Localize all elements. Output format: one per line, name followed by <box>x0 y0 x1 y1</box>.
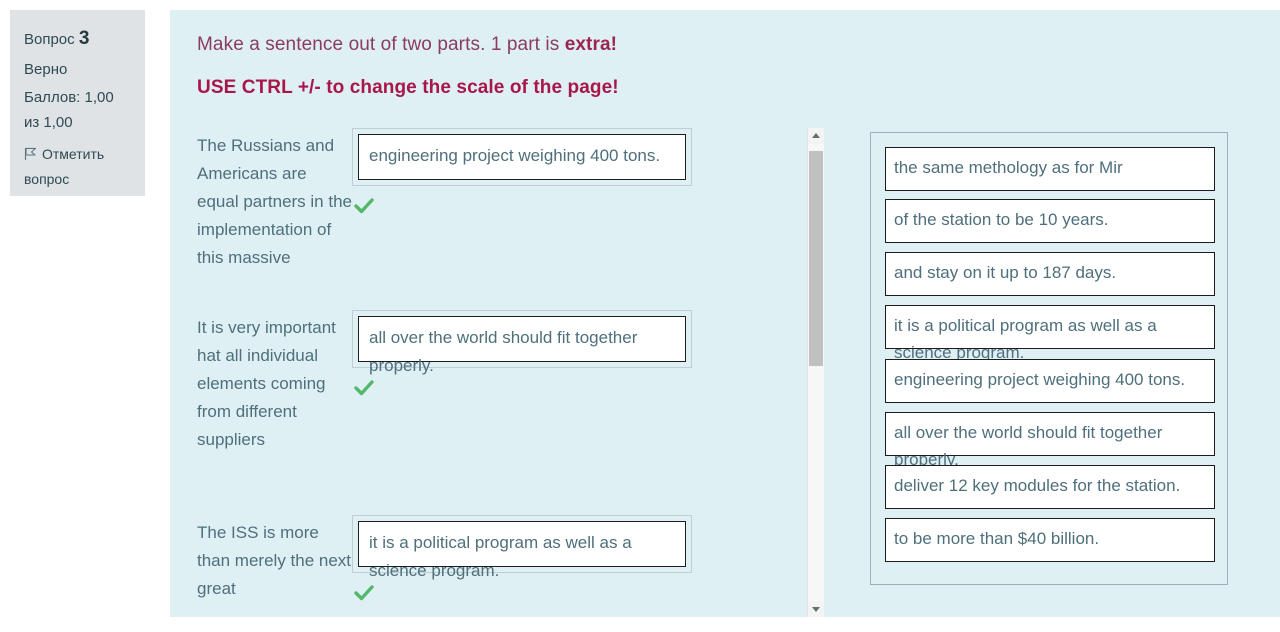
scroll-down-button[interactable] <box>808 601 824 617</box>
question-label: Вопрос <box>24 31 75 48</box>
green-check-icon <box>354 583 374 603</box>
prompt-line-1-emphasis: extra! <box>565 34 617 55</box>
drag-source-panel: the same methology as for Mir of the sta… <box>870 132 1228 585</box>
drop-zone[interactable]: engineering project weighing 400 tons. <box>352 128 692 186</box>
drag-source-item[interactable]: and stay on it up to 187 days. <box>885 252 1215 296</box>
question-status: Верно <box>24 55 133 85</box>
drag-source-item[interactable]: the same methology as for Mir <box>885 147 1215 191</box>
dropped-answer[interactable]: engineering project weighing 400 tons. <box>358 134 686 180</box>
sentence-stem: The Russians and Americans are equal par… <box>197 132 352 272</box>
drag-source-item[interactable]: engineering project weighing 400 tons. <box>885 359 1215 403</box>
green-check-icon <box>354 196 374 216</box>
answer-area-scrollbar[interactable] <box>807 128 824 617</box>
answer-area: The Russians and Americans are equal par… <box>170 128 970 617</box>
sentence-stem: The ISS is more than merely the next gre… <box>197 519 352 603</box>
drag-source-item[interactable]: deliver 12 key modules for the station. <box>885 465 1215 509</box>
prompt-line-1: Make a sentence out of two parts. 1 part… <box>197 30 897 60</box>
drag-source-item[interactable]: it is a political program as well as a s… <box>885 305 1215 349</box>
flag-question-button[interactable]: Отметить вопрос <box>24 143 133 191</box>
drop-zone[interactable]: it is a political program as well as a s… <box>352 515 692 573</box>
flag-outline-icon <box>24 145 37 168</box>
prompt-line-1-text: Make a sentence out of two parts. 1 part… <box>197 34 565 55</box>
drag-source-item[interactable]: to be more than $40 billion. <box>885 518 1215 562</box>
prompt-line-2: USE CTRL +/- to change the scale of the … <box>197 73 897 103</box>
question-panel: Make a sentence out of two parts. 1 part… <box>170 10 1280 617</box>
green-check-icon <box>354 378 374 398</box>
question-score: Баллов: 1,00 из 1,00 <box>24 85 133 135</box>
drag-source-item[interactable]: all over the world should fit together p… <box>885 412 1215 456</box>
scrollbar-thumb[interactable] <box>809 151 823 366</box>
dropped-answer[interactable]: it is a political program as well as a s… <box>358 521 686 567</box>
triangle-down-icon <box>812 607 820 612</box>
prompt-block: Make a sentence out of two parts. 1 part… <box>197 30 897 103</box>
sentence-stem: It is very important hat all individual … <box>197 314 352 454</box>
question-number: 3 <box>79 28 90 49</box>
question-number-line: Вопрос 3 <box>24 24 133 55</box>
question-info-box: Вопрос 3 Верно Баллов: 1,00 из 1,00 Отме… <box>10 10 145 196</box>
drop-zone[interactable]: all over the world should fit together p… <box>352 310 692 368</box>
drag-source-item[interactable]: of the station to be 10 years. <box>885 199 1215 243</box>
dropped-answer[interactable]: all over the world should fit together p… <box>358 316 686 362</box>
triangle-up-icon <box>812 133 820 138</box>
scroll-up-button[interactable] <box>808 128 824 144</box>
